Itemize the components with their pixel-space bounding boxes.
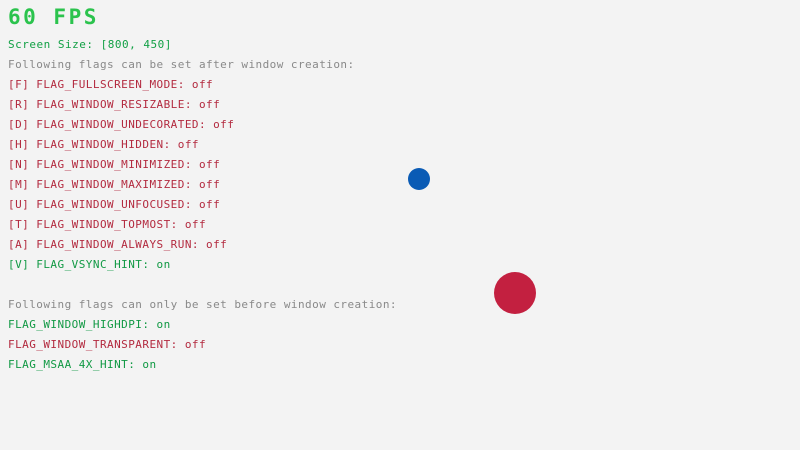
blue-circle (408, 168, 430, 190)
runtime-flag-row-8[interactable]: [A] FLAG_WINDOW_ALWAYS_RUN: off (8, 239, 234, 259)
runtime-flag-row-9[interactable]: [V] FLAG_VSYNC_HINT: on (8, 259, 234, 279)
runtime-flag-row-5[interactable]: [M] FLAG_WINDOW_MAXIMIZED: off (8, 179, 234, 199)
red-circle (494, 272, 536, 314)
app-window: 60 FPS Screen Size: [800, 450] Following… (0, 0, 800, 450)
creation-flag-row-1[interactable]: FLAG_WINDOW_TRANSPARENT: off (8, 339, 206, 359)
creation-flag-row-2[interactable]: FLAG_MSAA_4X_HINT: on (8, 359, 206, 379)
fps-counter: 60 FPS (8, 7, 99, 28)
runtime-flag-row-0[interactable]: [F] FLAG_FULLSCREEN_MODE: off (8, 79, 234, 99)
creation-flags-header: Following flags can only be set before w… (8, 299, 397, 310)
screen-size-label: Screen Size: [800, 450] (8, 39, 172, 50)
runtime-flag-row-6[interactable]: [U] FLAG_WINDOW_UNFOCUSED: off (8, 199, 234, 219)
runtime-flag-row-3[interactable]: [H] FLAG_WINDOW_HIDDEN: off (8, 139, 234, 159)
runtime-flag-row-1[interactable]: [R] FLAG_WINDOW_RESIZABLE: off (8, 99, 234, 119)
runtime-flag-row-4[interactable]: [N] FLAG_WINDOW_MINIMIZED: off (8, 159, 234, 179)
runtime-flag-row-2[interactable]: [D] FLAG_WINDOW_UNDECORATED: off (8, 119, 234, 139)
runtime-flag-row-7[interactable]: [T] FLAG_WINDOW_TOPMOST: off (8, 219, 234, 239)
creation-flags-list: FLAG_WINDOW_HIGHDPI: onFLAG_WINDOW_TRANS… (8, 319, 206, 379)
runtime-flags-list: [F] FLAG_FULLSCREEN_MODE: off[R] FLAG_WI… (8, 79, 234, 279)
runtime-flags-header: Following flags can be set after window … (8, 59, 355, 70)
creation-flag-row-0[interactable]: FLAG_WINDOW_HIGHDPI: on (8, 319, 206, 339)
